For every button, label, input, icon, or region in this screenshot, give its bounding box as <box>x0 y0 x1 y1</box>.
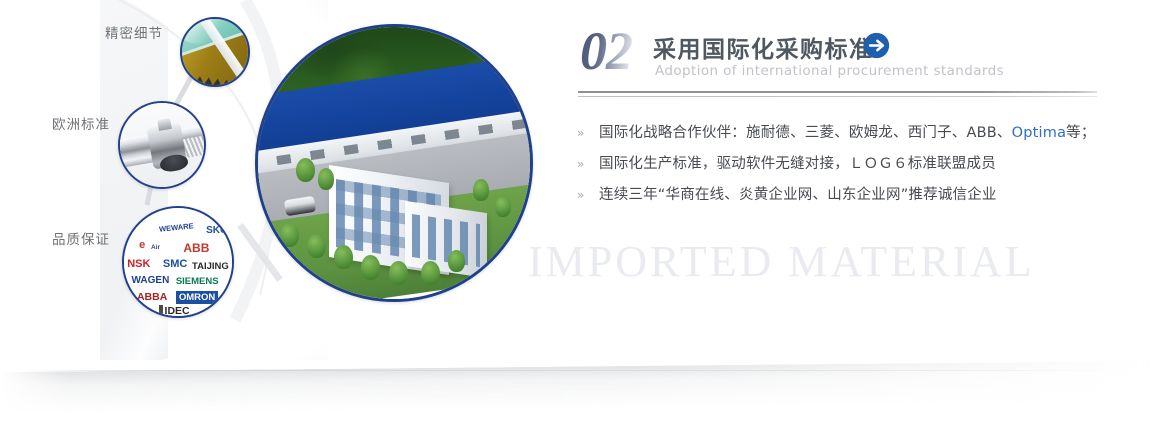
screw-knob <box>157 118 172 131</box>
brand-logo: NSK <box>127 258 150 270</box>
tree-icon <box>307 234 326 258</box>
watermark-text: IMPORTED MATERIAL <box>528 236 1035 287</box>
feature-bullet-row: »国际化生产标准，驱动软件无缝对接，ＬＯＧ６标准联盟成员 <box>577 149 1097 180</box>
tree-icon <box>389 261 408 285</box>
brand-logos-photo: WEWARESKOeAirABBNSKSMCTAIJINGWAGENSIEMEN… <box>122 206 234 318</box>
tree-icon <box>280 223 299 247</box>
brand-logo: OMRON <box>176 291 218 304</box>
feature-bullet-text: 国际化生产标准，驱动软件无缝对接，ＬＯＧ６标准联盟成员 <box>599 149 996 180</box>
section-number: 02 <box>580 20 632 82</box>
brand-logo: SKO <box>206 225 228 236</box>
brand-logo: e <box>139 239 145 251</box>
arrow-right-circle-icon[interactable] <box>863 32 890 59</box>
tree-icon <box>361 255 380 279</box>
feature-bullet-list: »国际化战略合作伙伴：施耐德、三菱、欧姆龙、西门子、ABB、Optima等；»国… <box>577 118 1097 211</box>
promo-banner: 精密细节 欧洲标准 品质保证 WEWARESKOeAirABBNSKSMCTAI… <box>0 0 1150 430</box>
bullet-highlight-brand: Optima <box>1012 125 1067 141</box>
factory-aerial-photo <box>255 24 533 302</box>
floor-reflection <box>0 361 1150 420</box>
brand-logo: TAIJING <box>192 261 229 272</box>
chevron-right-icon: » <box>577 180 584 211</box>
chevron-right-icon: » <box>577 118 584 149</box>
precision-gear-photo <box>180 17 250 87</box>
section-title-en: Adoption of international procurement st… <box>655 63 1004 79</box>
brand-logo: IDEC <box>159 305 190 317</box>
feature-bullet-row: »连续三年“华商在线、炎黄企业网、山东企业网”推荐诚信企业 <box>577 180 1097 211</box>
brand-logo: ABB <box>183 241 209 255</box>
feature-bullet-row: »国际化战略合作伙伴：施耐德、三菱、欧姆龙、西门子、ABB、Optima等； <box>577 118 1097 149</box>
tree-icon <box>296 158 315 182</box>
showcase-label-precision: 精密细节 <box>105 22 163 42</box>
brand-logo: SIEMENS <box>176 276 219 287</box>
ball-screw-photo <box>118 101 206 189</box>
tree-icon <box>334 245 353 269</box>
tree-icon <box>473 179 489 201</box>
tree-icon <box>421 261 440 285</box>
factory-annex-building <box>405 200 487 277</box>
showcase-label-european-standard: 欧洲标准 <box>52 113 110 133</box>
section-title-cn: 采用国际化采购标准 <box>653 30 874 64</box>
header-divider-thick <box>578 91 1097 93</box>
feature-bullet-text: 连续三年“华商在线、炎黄企业网、山东企业网”推荐诚信企业 <box>599 180 997 211</box>
feature-bullet-text: 国际化战略合作伙伴：施耐德、三菱、欧姆龙、西门子、ABB、Optima等； <box>599 118 1096 149</box>
chevron-right-icon: » <box>577 149 584 180</box>
brand-logo: SMC <box>163 258 187 270</box>
tree-icon <box>495 196 511 218</box>
header-divider-thin <box>578 96 1097 97</box>
brand-logo: WAGEN <box>132 275 170 286</box>
brand-logo: ABBA <box>137 291 167 303</box>
tree-icon <box>318 168 334 190</box>
showcase-label-quality-assurance: 品质保证 <box>52 228 110 248</box>
tree-icon <box>448 250 464 272</box>
section-header: 02 采用国际化采购标准 Adoption of international p… <box>575 26 1105 86</box>
brand-logo: Air <box>151 244 160 251</box>
